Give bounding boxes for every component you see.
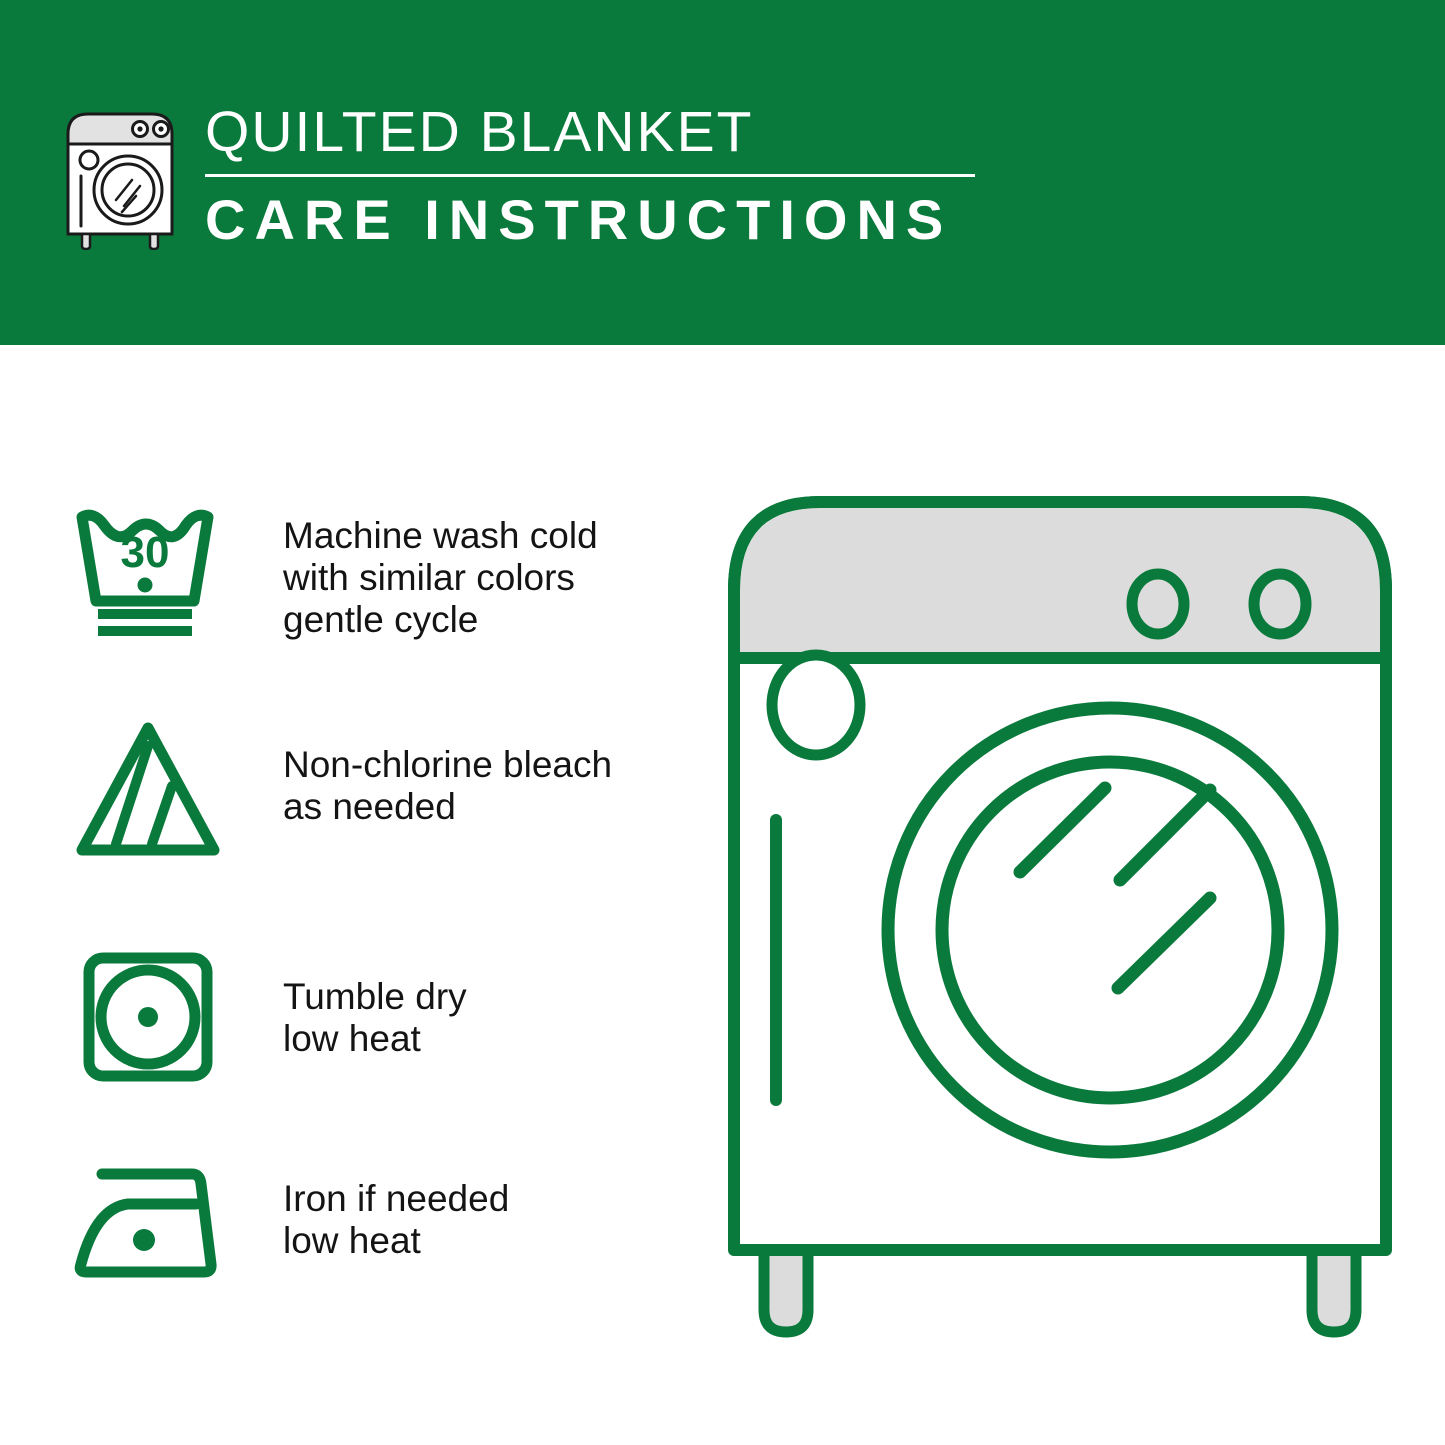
care-instructions-page: QUILTED BLANKET CARE INSTRUCTIONS 30 Mac… bbox=[0, 0, 1445, 1445]
care-text-line: Non-chlorine bleach bbox=[283, 744, 612, 786]
care-instruction-text-iron: Iron if needed low heat bbox=[235, 1152, 509, 1262]
svg-text:30: 30 bbox=[120, 528, 169, 577]
page-subtitle: CARE INSTRUCTIONS bbox=[205, 187, 995, 253]
detergent-port bbox=[772, 655, 860, 755]
tumble-dry-low-icon bbox=[60, 942, 235, 1092]
care-text-line: gentle cycle bbox=[283, 599, 598, 641]
non-chlorine-bleach-triangle-icon bbox=[60, 718, 235, 863]
wash-tub-30-gentle-icon: 30 bbox=[60, 495, 235, 645]
washing-machine-icon bbox=[62, 104, 186, 250]
care-text-line: Tumble dry bbox=[283, 976, 467, 1018]
care-instruction-row-dry: Tumble dry low heat bbox=[60, 942, 690, 1092]
iron-low-heat-icon bbox=[60, 1152, 235, 1292]
care-text-line: Iron if needed bbox=[283, 1178, 509, 1220]
care-text-line: with similar colors bbox=[283, 557, 598, 599]
door-inner-ring bbox=[942, 762, 1278, 1098]
control-dial bbox=[1132, 574, 1184, 634]
care-instruction-text-dry: Tumble dry low heat bbox=[235, 942, 467, 1060]
front-load-washing-machine-illustration bbox=[720, 480, 1400, 1360]
care-instruction-text-bleach: Non-chlorine bleach as needed bbox=[235, 718, 612, 828]
care-instruction-row-iron: Iron if needed low heat bbox=[60, 1152, 690, 1292]
title-divider bbox=[205, 174, 975, 177]
care-text-line: low heat bbox=[283, 1018, 467, 1060]
care-instruction-row-bleach: Non-chlorine bleach as needed bbox=[60, 718, 690, 863]
page-title: QUILTED BLANKET bbox=[205, 96, 995, 168]
care-text-line: Machine wash cold bbox=[283, 515, 598, 557]
header-band: QUILTED BLANKET CARE INSTRUCTIONS bbox=[0, 0, 1445, 345]
header-text-block: QUILTED BLANKET CARE INSTRUCTIONS bbox=[205, 96, 995, 253]
care-text-line: as needed bbox=[283, 786, 612, 828]
care-instruction-text-wash: Machine wash cold with similar colors ge… bbox=[235, 495, 598, 641]
care-text-line: low heat bbox=[283, 1220, 509, 1262]
control-dial bbox=[1254, 574, 1306, 634]
care-instruction-row-wash: 30 Machine wash cold with similar colors… bbox=[60, 495, 690, 645]
